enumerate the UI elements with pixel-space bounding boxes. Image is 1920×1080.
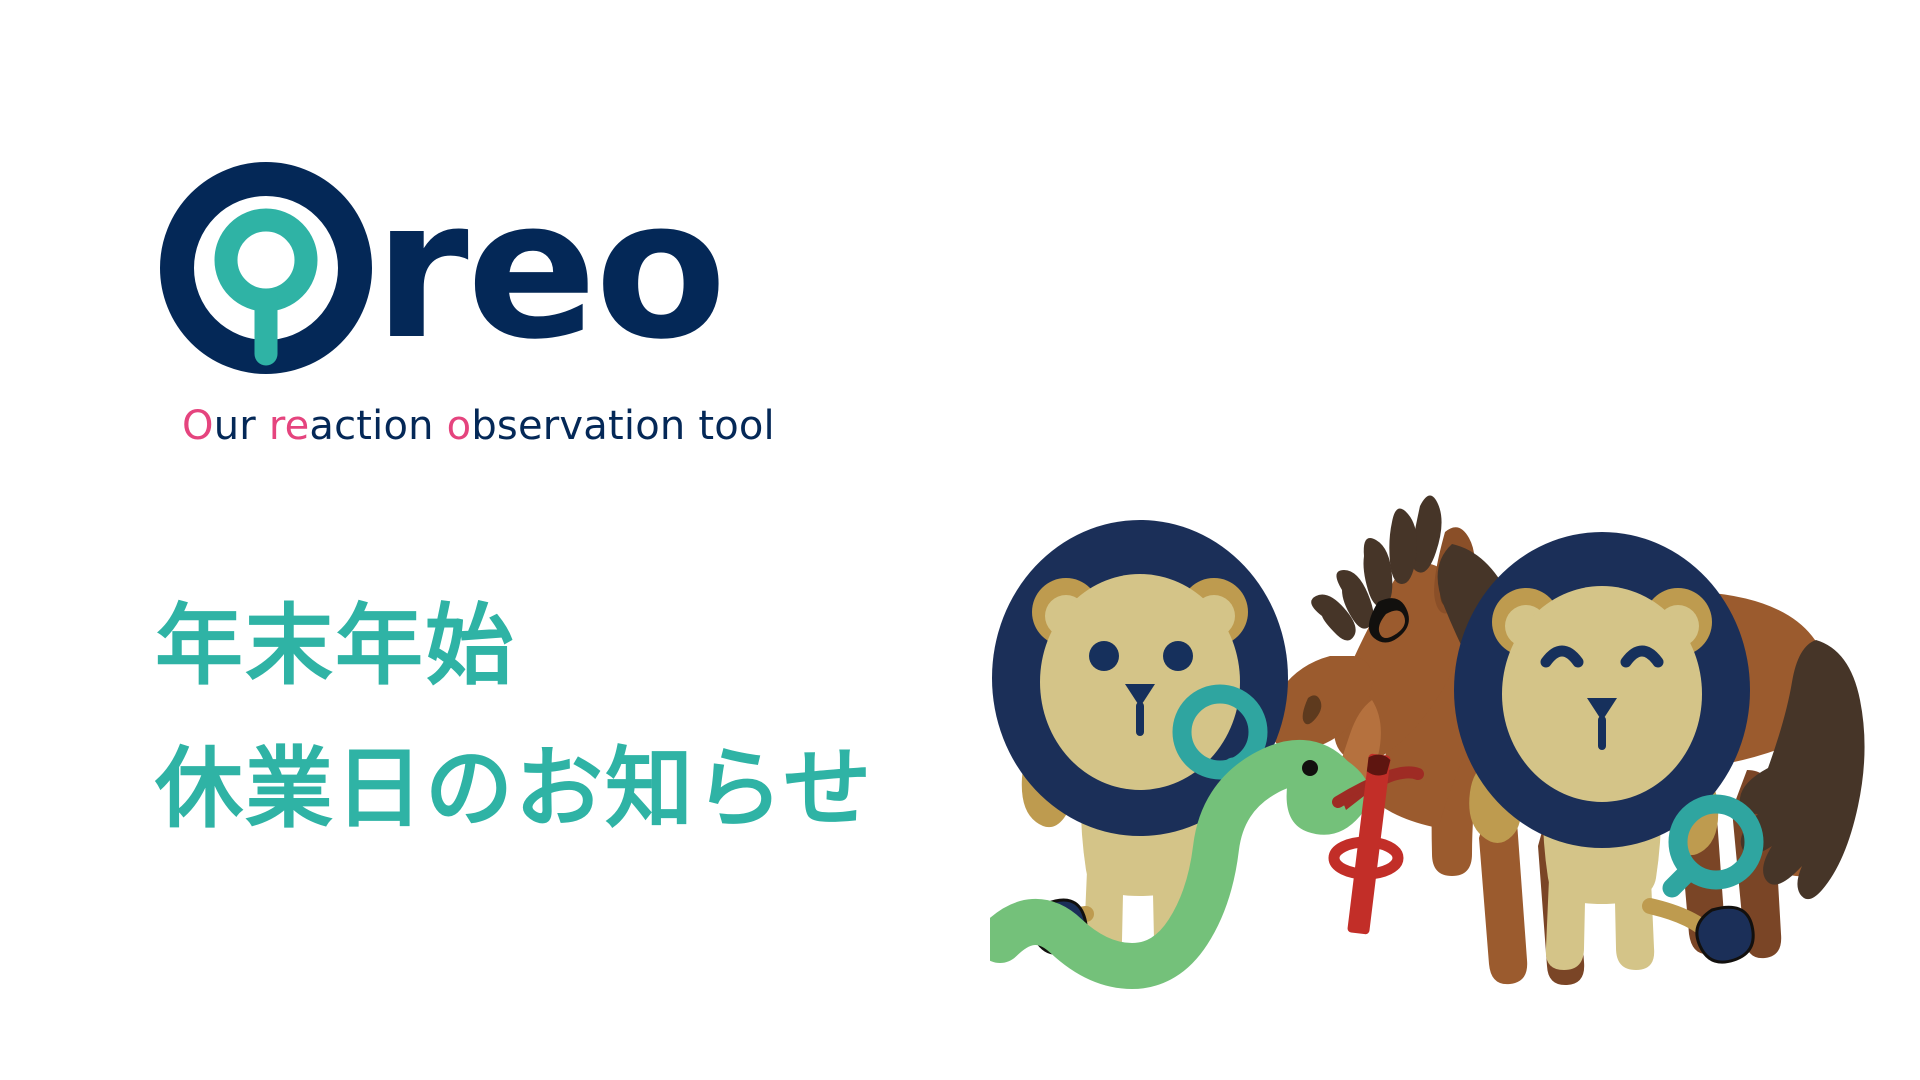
logo-wordmark: reo xyxy=(160,160,860,375)
zodiac-mascots-graphic xyxy=(990,470,1920,1000)
tagline-segment: action xyxy=(309,403,446,449)
lion-mascot-left xyxy=(992,520,1288,962)
headline-line-2: 休業日のお知らせ xyxy=(155,718,873,861)
brand-logo: reo Our reaction observation tool xyxy=(160,160,860,449)
mascot-illustration xyxy=(990,470,1920,1000)
magnifier-o-icon xyxy=(160,162,372,374)
announcement-headline: 年末年始 休業日のお知らせ xyxy=(155,575,873,860)
headline-line-1: 年末年始 xyxy=(155,575,873,718)
tagline-segment: re xyxy=(269,403,310,449)
logo-wordmark-text: reo xyxy=(374,188,725,353)
tagline-segment: o xyxy=(447,403,472,449)
tagline-segment: bservation tool xyxy=(471,403,775,449)
tagline-segment: O xyxy=(182,403,214,449)
tagline-segment: ur xyxy=(214,403,269,449)
logo-tagline: Our reaction observation tool xyxy=(182,403,860,449)
announcement-slide: reo Our reaction observation tool 年末年始 休… xyxy=(0,0,1920,1080)
